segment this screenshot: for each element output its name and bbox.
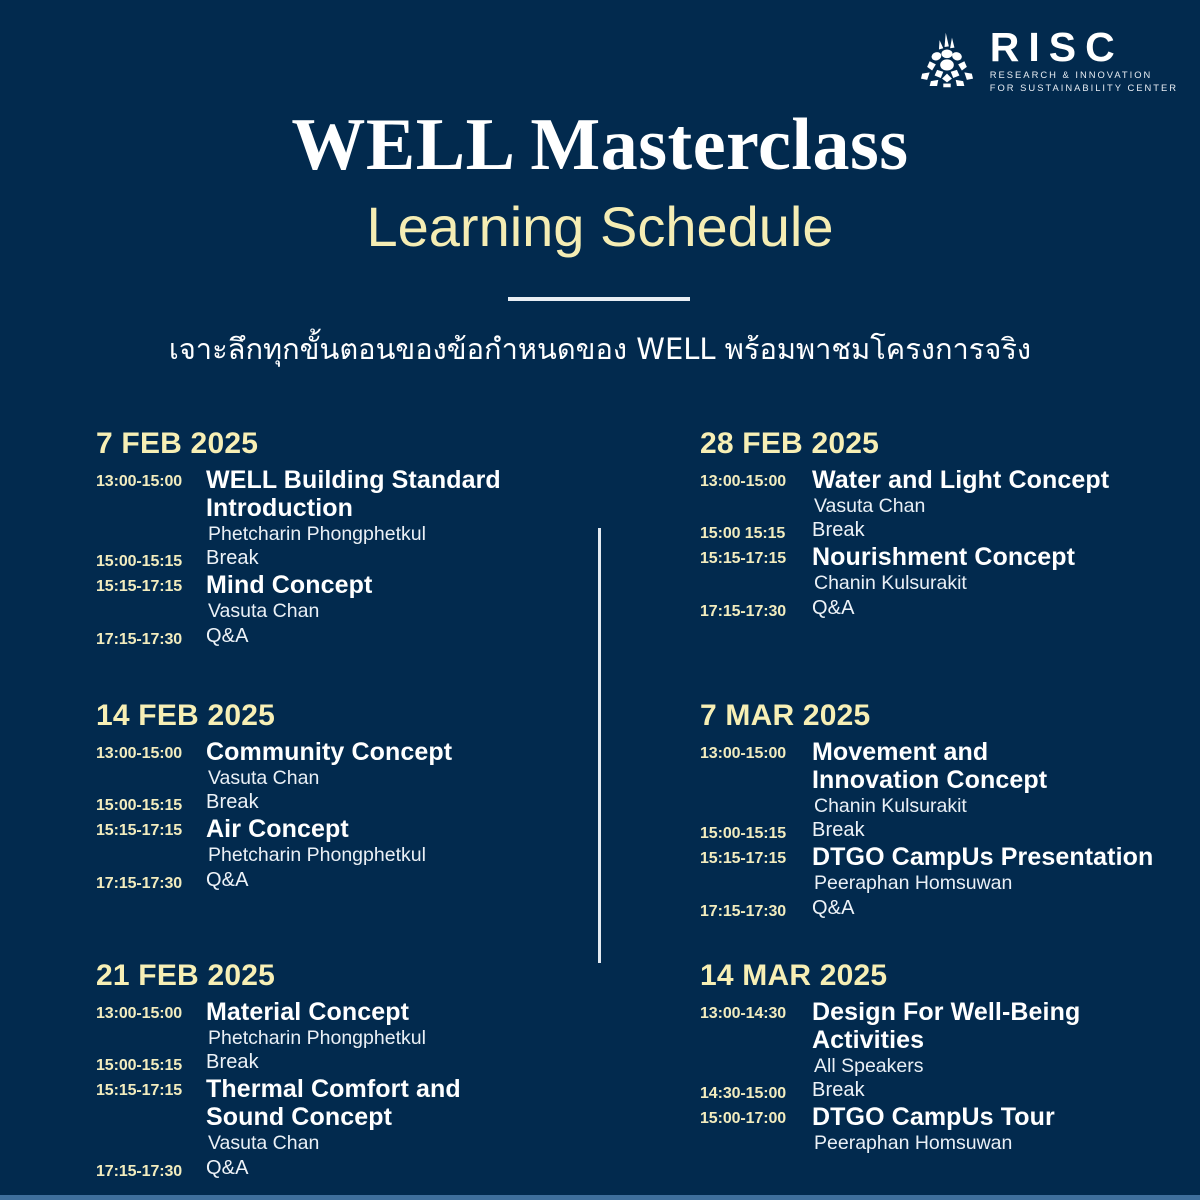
session-topic: Break	[206, 1050, 576, 1075]
session-time: 15:00-17:00	[700, 1103, 812, 1129]
session-body: Q&A	[206, 1156, 576, 1181]
session-topic: DTGO CampUs Tour	[812, 1103, 1190, 1131]
schedule-row: 15:15-17:15Air ConceptPhetcharin Phongph…	[96, 815, 576, 867]
risc-tagline-line2: FOR SUSTAINABILITY CENTER	[990, 82, 1178, 95]
session-body: Thermal Comfort andSound ConceptVasuta C…	[206, 1075, 576, 1155]
session-topic: Break	[206, 546, 576, 571]
risc-triangle-mosaic-icon	[916, 29, 978, 91]
column-divider	[598, 528, 601, 963]
schedule-row: 14:30-15:00Break	[700, 1078, 1190, 1104]
session-body: DTGO CampUs PresentationPeeraphan Homsuw…	[812, 843, 1190, 895]
day-rows: 13:00-15:00Community ConceptVasuta Chan1…	[96, 738, 576, 894]
schedule-day: 14 MAR 202513:00-14:30Design For Well-Be…	[700, 956, 1190, 1156]
session-topic-line2: Innovation Concept	[812, 766, 1190, 794]
session-body: Q&A	[206, 868, 576, 893]
session-body: Air ConceptPhetcharin Phongphetkul	[206, 815, 576, 867]
session-body: Material ConceptPhetcharin Phongphetkul	[206, 998, 576, 1050]
schedule-row: 15:00-15:15Break	[96, 1050, 576, 1076]
session-body: Mind ConceptVasuta Chan	[206, 571, 576, 623]
session-time: 15:00-15:15	[700, 818, 812, 844]
thai-description: เจาะลึกทุกขั้นตอนของข้อกำหนดของ WELL พร้…	[0, 330, 1200, 369]
session-topic: Break	[812, 818, 1190, 843]
session-topic: Q&A	[812, 896, 1190, 921]
schedule-row: 15:00-15:15Break	[96, 790, 576, 816]
day-date: 7 FEB 2025	[96, 424, 576, 465]
session-time: 15:00-15:15	[96, 790, 206, 816]
day-date: 28 FEB 2025	[700, 424, 1190, 465]
day-rows: 13:00-15:00Movement andInnovation Concep…	[700, 738, 1190, 922]
session-time: 15:15-17:15	[700, 843, 812, 869]
risc-logo-text: RISC RESEARCH & INNOVATION FOR SUSTAINAB…	[990, 26, 1178, 95]
session-topic: Q&A	[206, 1156, 576, 1181]
session-topic: Community Concept	[206, 738, 576, 766]
session-speaker: Vasuta Chan	[206, 599, 576, 623]
session-topic: Movement and	[812, 738, 1190, 766]
day-date: 7 MAR 2025	[700, 696, 1190, 737]
schedule-row: 17:15-17:30Q&A	[700, 596, 1190, 622]
session-time: 14:30-15:00	[700, 1078, 812, 1104]
page-subtitle: Learning Schedule	[0, 196, 1200, 258]
session-time: 17:15-17:30	[96, 624, 206, 650]
day-rows: 13:00-15:00Water and Light ConceptVasuta…	[700, 466, 1190, 622]
session-time: 17:15-17:30	[700, 896, 812, 922]
schedule-day: 28 FEB 202513:00-15:00Water and Light Co…	[700, 424, 1190, 621]
day-rows: 13:00-15:00Material ConceptPhetcharin Ph…	[96, 998, 576, 1182]
session-topic: Break	[812, 518, 1190, 543]
session-body: Break	[206, 546, 576, 571]
session-topic: WELL Building Standard	[206, 466, 576, 494]
session-topic: Thermal Comfort and	[206, 1075, 576, 1103]
session-topic: Water and Light Concept	[812, 466, 1190, 494]
session-time: 15:15-17:15	[96, 815, 206, 841]
session-time: 15:15-17:15	[96, 571, 206, 597]
session-time: 15:15-17:15	[700, 543, 812, 569]
risc-wordmark: RISC	[990, 26, 1178, 69]
schedule-row: 15:00-17:00DTGO CampUs TourPeeraphan Hom…	[700, 1103, 1190, 1155]
schedule-day: 7 MAR 202513:00-15:00Movement andInnovat…	[700, 696, 1190, 921]
title-divider-rule	[508, 297, 690, 301]
session-topic: Mind Concept	[206, 571, 576, 599]
session-topic: Air Concept	[206, 815, 576, 843]
session-time: 13:00-15:00	[700, 466, 812, 492]
session-time: 17:15-17:30	[700, 596, 812, 622]
day-date: 14 FEB 2025	[96, 696, 576, 737]
session-body: Design For Well-BeingActivitiesAll Speak…	[812, 998, 1190, 1078]
schedule-row: 13:00-15:00Material ConceptPhetcharin Ph…	[96, 998, 576, 1050]
session-topic: Q&A	[206, 624, 576, 649]
schedule-row: 15:00 15:15Break	[700, 518, 1190, 544]
session-topic: Design For Well-Being	[812, 998, 1190, 1026]
session-speaker: Chanin Kulsurakit	[812, 571, 1190, 595]
schedule-row: 15:15-17:15Nourishment ConceptChanin Kul…	[700, 543, 1190, 595]
session-time: 15:00 15:15	[700, 518, 812, 544]
schedule-row: 15:15-17:15Mind ConceptVasuta Chan	[96, 571, 576, 623]
session-topic: Material Concept	[206, 998, 576, 1026]
session-topic-line2: Sound Concept	[206, 1103, 576, 1131]
session-body: Break	[812, 818, 1190, 843]
session-time: 13:00-15:00	[96, 466, 206, 492]
day-date: 21 FEB 2025	[96, 956, 576, 997]
session-speaker: Vasuta Chan	[206, 766, 576, 790]
schedule-row: 15:15-17:15Thermal Comfort andSound Conc…	[96, 1075, 576, 1155]
session-speaker: Phetcharin Phongphetkul	[206, 843, 576, 867]
page-title: WELL Masterclass	[0, 108, 1200, 182]
session-time: 17:15-17:30	[96, 1156, 206, 1182]
session-body: DTGO CampUs TourPeeraphan Homsuwan	[812, 1103, 1190, 1155]
day-date: 14 MAR 2025	[700, 956, 1190, 997]
session-topic: Nourishment Concept	[812, 543, 1190, 571]
session-speaker: Phetcharin Phongphetkul	[206, 522, 576, 546]
session-body: Community ConceptVasuta Chan	[206, 738, 576, 790]
day-rows: 13:00-14:30Design For Well-BeingActiviti…	[700, 998, 1190, 1156]
schedule-day: 21 FEB 202513:00-15:00Material ConceptPh…	[96, 956, 576, 1181]
schedule-row: 13:00-15:00WELL Building StandardIntrodu…	[96, 466, 576, 546]
schedule-row: 13:00-15:00Community ConceptVasuta Chan	[96, 738, 576, 790]
schedule-row: 17:15-17:30Q&A	[700, 896, 1190, 922]
session-speaker: Phetcharin Phongphetkul	[206, 1026, 576, 1050]
session-time: 15:15-17:15	[96, 1075, 206, 1101]
session-body: Q&A	[206, 624, 576, 649]
session-body: Movement andInnovation ConceptChanin Kul…	[812, 738, 1190, 818]
session-body: Q&A	[812, 896, 1190, 921]
session-time: 15:00-15:15	[96, 1050, 206, 1076]
session-speaker: Vasuta Chan	[206, 1131, 576, 1155]
session-body: Nourishment ConceptChanin Kulsurakit	[812, 543, 1190, 595]
session-topic: Q&A	[812, 596, 1190, 621]
session-topic: Break	[206, 790, 576, 815]
schedule-row: 15:00-15:15Break	[96, 546, 576, 572]
day-rows: 13:00-15:00WELL Building StandardIntrodu…	[96, 466, 576, 650]
session-topic-line2: Introduction	[206, 494, 576, 522]
session-speaker: Vasuta Chan	[812, 494, 1190, 518]
session-speaker: Peeraphan Homsuwan	[812, 871, 1190, 895]
session-time: 17:15-17:30	[96, 868, 206, 894]
session-time: 15:00-15:15	[96, 546, 206, 572]
schedule-row: 17:15-17:30Q&A	[96, 1156, 576, 1182]
schedule-row: 13:00-15:00Movement andInnovation Concep…	[700, 738, 1190, 818]
schedule-row: 13:00-15:00Water and Light ConceptVasuta…	[700, 466, 1190, 518]
session-body: Water and Light ConceptVasuta Chan	[812, 466, 1190, 518]
session-topic: Break	[812, 1078, 1190, 1103]
session-time: 13:00-15:00	[96, 738, 206, 764]
session-body: Break	[812, 1078, 1190, 1103]
schedule-row: 17:15-17:30Q&A	[96, 624, 576, 650]
session-topic: DTGO CampUs Presentation	[812, 843, 1190, 871]
schedule-row: 15:15-17:15DTGO CampUs PresentationPeera…	[700, 843, 1190, 895]
session-topic-line2: Activities	[812, 1026, 1190, 1054]
session-body: WELL Building StandardIntroductionPhetch…	[206, 466, 576, 546]
risc-tagline-line1: RESEARCH & INNOVATION	[990, 69, 1178, 82]
session-body: Q&A	[812, 596, 1190, 621]
session-body: Break	[206, 1050, 576, 1075]
schedule-day: 14 FEB 202513:00-15:00Community ConceptV…	[96, 696, 576, 893]
schedule-row: 17:15-17:30Q&A	[96, 868, 576, 894]
schedule-day: 7 FEB 202513:00-15:00WELL Building Stand…	[96, 424, 576, 649]
session-body: Break	[206, 790, 576, 815]
session-speaker: Chanin Kulsurakit	[812, 794, 1190, 818]
poster-canvas: RISC RESEARCH & INNOVATION FOR SUSTAINAB…	[0, 0, 1200, 1200]
session-time: 13:00-15:00	[96, 998, 206, 1024]
schedule-row: 15:00-15:15Break	[700, 818, 1190, 844]
session-body: Break	[812, 518, 1190, 543]
session-speaker: Peeraphan Homsuwan	[812, 1131, 1190, 1155]
session-time: 13:00-14:30	[700, 998, 812, 1024]
session-topic: Q&A	[206, 868, 576, 893]
risc-logo: RISC RESEARCH & INNOVATION FOR SUSTAINAB…	[916, 26, 1178, 95]
session-time: 13:00-15:00	[700, 738, 812, 764]
session-speaker: All Speakers	[812, 1054, 1190, 1078]
schedule-row: 13:00-14:30Design For Well-BeingActiviti…	[700, 998, 1190, 1078]
